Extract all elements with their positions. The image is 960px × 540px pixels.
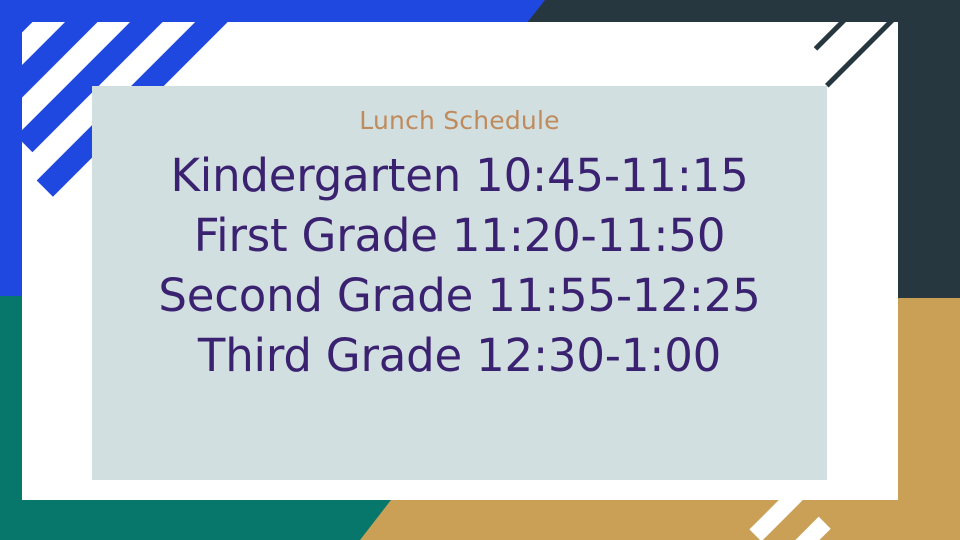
schedule-line: Third Grade 12:30-1:00 <box>92 326 827 386</box>
schedule-line: First Grade 11:20-11:50 <box>92 206 827 266</box>
schedule-line: Kindergarten 10:45-11:15 <box>92 146 827 206</box>
content-panel: Lunch Schedule Kindergarten 10:45-11:15 … <box>92 86 827 480</box>
slide: Lunch Schedule Kindergarten 10:45-11:15 … <box>0 0 960 540</box>
schedule-line: Second Grade 11:55-12:25 <box>92 266 827 326</box>
panel-title: Lunch Schedule <box>92 100 827 142</box>
schedule-list: Kindergarten 10:45-11:15 First Grade 11:… <box>92 146 827 386</box>
